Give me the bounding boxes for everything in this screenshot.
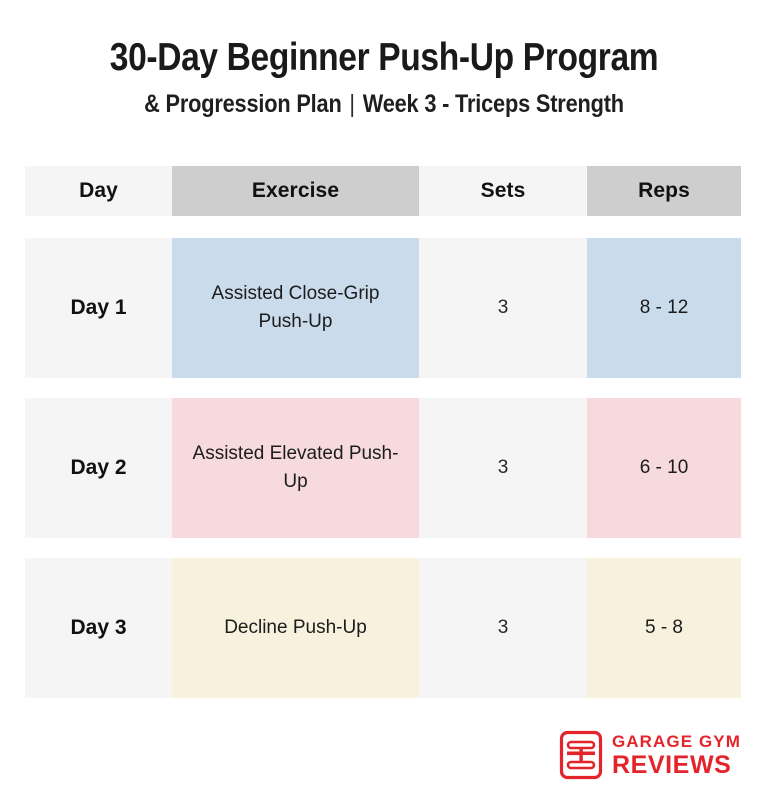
subtitle-right-text: Week 3 - Triceps Strength (363, 90, 624, 118)
cell-day: Day 2 (25, 398, 172, 538)
workout-table: Day Exercise Sets Reps Day 1 Assisted Cl… (25, 166, 741, 718)
cell-sets: 3 (419, 558, 587, 698)
cell-reps: 5 - 8 (587, 558, 741, 698)
cell-sets: 3 (419, 398, 587, 538)
page-title: 30-Day Beginner Push-Up Program (54, 38, 714, 79)
table-header-row: Day Exercise Sets Reps (25, 166, 741, 216)
subtitle-left-text: & Progression Plan (144, 90, 342, 118)
cell-day: Day 1 (25, 238, 172, 378)
column-header-exercise: Exercise (172, 166, 419, 216)
cell-day: Day 3 (25, 558, 172, 698)
garage-gym-reviews-logo: GARAGE GYM REVIEWS (559, 730, 741, 780)
logo-line-1: GARAGE GYM (612, 733, 741, 750)
cell-exercise: Assisted Close-Grip Push-Up (172, 238, 419, 378)
cell-reps: 8 - 12 (587, 238, 741, 378)
column-header-sets: Sets (419, 166, 587, 216)
table-row: Day 2 Assisted Elevated Push-Up 3 6 - 10 (25, 398, 741, 538)
subtitle-divider: | (342, 90, 363, 119)
cell-reps: 6 - 10 (587, 398, 741, 538)
page-header: 30-Day Beginner Push-Up Program & Progre… (0, 0, 768, 119)
cell-exercise: Assisted Elevated Push-Up (172, 398, 419, 538)
logo-wordmark: GARAGE GYM REVIEWS (612, 733, 741, 778)
page-subtitle: & Progression Plan|Week 3 - Triceps Stre… (50, 90, 718, 119)
cell-sets: 3 (419, 238, 587, 378)
table-row: Day 3 Decline Push-Up 3 5 - 8 (25, 558, 741, 698)
column-header-day: Day (25, 166, 172, 216)
bench-press-rack-icon (559, 730, 603, 780)
table-row: Day 1 Assisted Close-Grip Push-Up 3 8 - … (25, 238, 741, 378)
cell-exercise: Decline Push-Up (172, 558, 419, 698)
logo-line-2: REVIEWS (612, 753, 741, 778)
column-header-reps: Reps (587, 166, 741, 216)
